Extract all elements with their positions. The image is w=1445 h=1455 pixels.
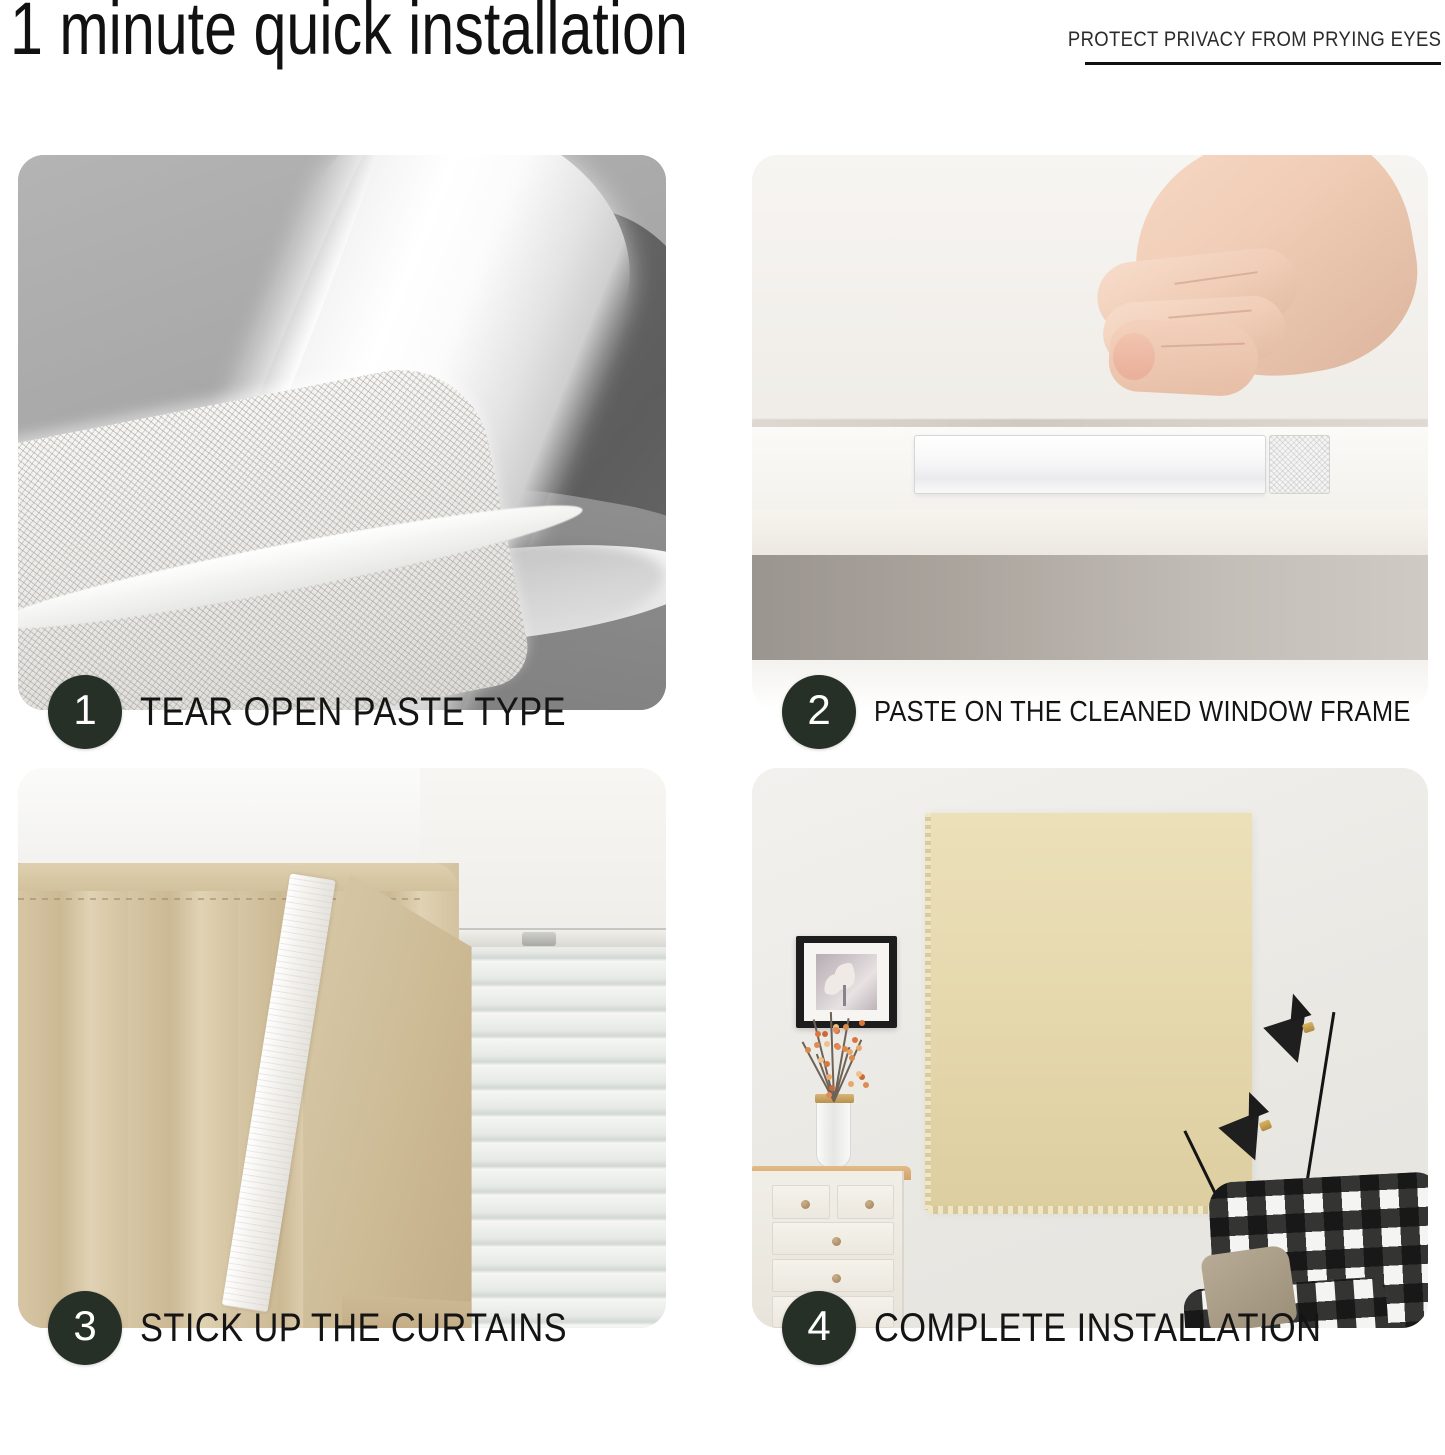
- picture-mat: [804, 943, 889, 1021]
- thumb-nail: [1113, 333, 1155, 380]
- tulip-stem: [843, 985, 846, 1006]
- framed-picture: [796, 936, 897, 1028]
- flower-berry: [847, 1049, 853, 1055]
- step-1-caption-row: 1 TEAR OPEN PASTE TYPE: [48, 672, 708, 752]
- flower-berry: [863, 1082, 869, 1088]
- step-2-caption: PASTE ON THE CLEANED WINDOW FRAME: [874, 696, 1411, 729]
- flower-berry: [843, 1024, 849, 1030]
- flower-berry: [824, 1061, 830, 1067]
- flower-berry: [852, 1037, 858, 1043]
- blind-bracket: [522, 932, 556, 946]
- step-1-photo: [18, 155, 666, 710]
- adhesive-tape-strip: [914, 435, 1266, 493]
- flower-berry: [848, 1081, 854, 1087]
- flower-berry: [835, 1044, 841, 1050]
- infographic-page: 1 minute quick installation PROTECT PRIV…: [0, 0, 1445, 1455]
- flower-berry: [849, 1055, 855, 1061]
- flower-berry: [829, 1085, 835, 1091]
- window-frame-edge: [752, 419, 1428, 427]
- step-3-image-cell: [18, 768, 666, 1328]
- adhesive-tape-strip-secondary: [1269, 435, 1330, 493]
- step-3-caption-row: 3 STICK UP THE CURTAINS: [48, 1288, 708, 1368]
- drawer-knob: [832, 1237, 841, 1246]
- step-4-image-cell: [752, 768, 1428, 1328]
- step-1-badge: 1: [48, 675, 122, 749]
- flower-berry: [805, 1047, 811, 1053]
- installed-blackout-blind: [928, 813, 1252, 1211]
- hand: [1090, 155, 1414, 416]
- flower-berry: [826, 1092, 832, 1098]
- step-3-caption: STICK UP THE CURTAINS: [140, 1306, 567, 1351]
- picture-artwork: [816, 954, 877, 1010]
- step-4-badge: 4: [782, 1291, 856, 1365]
- glass-vase: [816, 1096, 851, 1169]
- step-1-image-cell: [18, 155, 666, 710]
- flower-berry: [815, 1031, 821, 1037]
- step-2-photo: [752, 155, 1428, 710]
- wall-shadow-band: [752, 555, 1428, 666]
- step-3-photo: [18, 768, 666, 1328]
- step-3-badge: 3: [48, 1291, 122, 1365]
- step-4-caption: COMPLETE INSTALLATION: [874, 1306, 1321, 1351]
- step-2-badge: 2: [782, 675, 856, 749]
- flower-berry: [818, 1057, 824, 1063]
- step-4-caption-row: 4 COMPLETE INSTALLATION: [782, 1288, 1442, 1368]
- curtain-folded-flap: [303, 874, 471, 1328]
- curtain-header: [18, 863, 459, 891]
- flower-berry: [859, 1020, 865, 1026]
- step-1-caption: TEAR OPEN PASTE TYPE: [140, 690, 566, 735]
- step-2-image-cell: [752, 155, 1428, 710]
- tulip-shape-2: [823, 973, 843, 996]
- step-2-caption-row: 2 PASTE ON THE CLEANED WINDOW FRAME: [782, 672, 1442, 752]
- step-4-photo: [752, 768, 1428, 1328]
- drawer-knob: [832, 1274, 841, 1283]
- drawer-knob: [801, 1200, 810, 1209]
